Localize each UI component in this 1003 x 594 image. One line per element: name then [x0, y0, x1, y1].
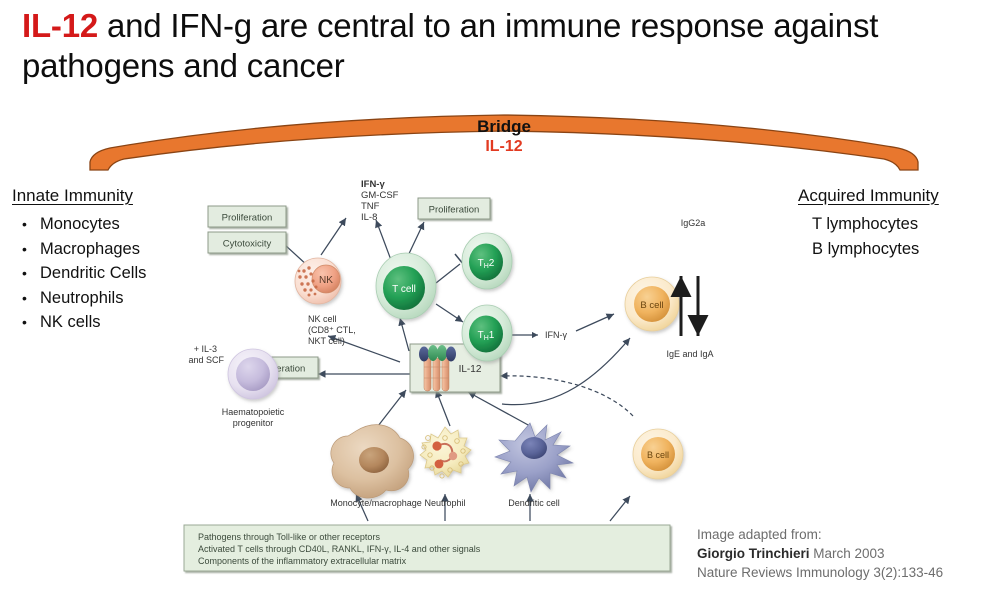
immune-pathway-diagram: Proliferation Cytotoxicity Proliferation…	[178, 176, 718, 586]
box-cytotoxicity-nk: Cytotoxicity	[208, 232, 286, 253]
acquired-immunity-heading: Acquired Immunity	[798, 186, 939, 206]
antibody-up-label: IgG2a	[681, 218, 706, 228]
title-accent: IL-12	[22, 7, 98, 44]
acquired-immunity-list: T lymphocytes B lymphocytes	[812, 212, 919, 261]
innate-immunity-list: Monocytes Macrophages Dendritic Cells Ne…	[18, 212, 146, 335]
nk-caption-line2: (CD8⁺ CTL,	[308, 325, 356, 335]
cell-nk: NK	[295, 258, 341, 304]
box-proliferation-tcell: Proliferation	[418, 198, 490, 219]
list-item: Dendritic Cells	[40, 261, 146, 286]
nk-caption-line3: NKT cell)	[308, 336, 345, 346]
cell-dendritic	[495, 423, 573, 492]
citation-author: Giorgio Trinchieri	[697, 546, 810, 561]
list-item: Neutrophils	[40, 286, 146, 311]
cytokine-ifng: IFN-γ	[361, 179, 385, 190]
progenitor-caption-line1: Haematopoietic	[222, 407, 285, 417]
citation-line-1: Image adapted from:	[697, 525, 943, 544]
stimuli-line-1: Pathogens through Toll-like or other rec…	[198, 532, 380, 542]
stimuli-line-3: Components of the inflammatory extracell…	[198, 556, 407, 566]
stimuli-box: Pathogens through Toll-like or other rec…	[184, 525, 670, 571]
page-title: IL-12 and IFN-g are central to an immune…	[22, 6, 982, 87]
list-item: Macrophages	[40, 237, 146, 262]
citation-line-3: Nature Reviews Immunology 3(2):133-46	[697, 563, 943, 582]
citation-line-2: Giorgio Trinchieri March 2003	[697, 544, 943, 563]
title-rest: and IFN-g are central to an immune respo…	[22, 7, 878, 84]
cytokine-il8: IL-8	[361, 212, 377, 223]
cell-label: T cell	[392, 284, 416, 295]
citation-date: March 2003	[810, 546, 885, 561]
il12-label: IL-12	[459, 364, 482, 375]
cell-neutrophil	[420, 427, 471, 478]
cell-label: B cell	[640, 300, 663, 311]
cell-monocyte-macrophage	[331, 425, 414, 498]
cytokine-tnf: TNF	[361, 201, 380, 212]
neutrophil-caption: Neutrophil	[424, 498, 465, 508]
box-label: Proliferation	[429, 205, 480, 216]
cytokine-gmcsf: GM-CSF	[361, 190, 399, 201]
progenitor-stim-line2: and SCF	[188, 355, 224, 365]
stimuli-line-2: Activated T cells through CD40L, RANKL, …	[198, 544, 481, 554]
dendritic-caption: Dendritic cell	[508, 498, 560, 508]
progenitor-stim-line1: + IL-3	[194, 344, 217, 354]
bridge-shape	[90, 115, 918, 170]
nk-caption-line1: NK cell	[308, 314, 337, 324]
bridge-arc: Bridge IL-12	[84, 112, 924, 174]
list-item: Monocytes	[40, 212, 146, 237]
cell-th2: TH2	[462, 233, 512, 289]
cell-label: B cell	[647, 450, 669, 460]
innate-immunity-heading: Innate Immunity	[12, 186, 133, 206]
cytokine-ifng-th1: IFN-γ	[545, 330, 567, 340]
slide-root: { "title": { "accent": "IL-12", "rest": …	[0, 0, 1003, 594]
cell-b-top: B cell	[625, 277, 679, 331]
cell-haematopoietic-progenitor	[228, 349, 278, 399]
cell-t: T cell	[376, 253, 436, 319]
cell-b-bottom: B cell	[633, 429, 683, 479]
list-item: T lymphocytes	[812, 212, 919, 237]
list-item: NK cells	[40, 310, 146, 335]
box-label: Cytotoxicity	[223, 239, 272, 250]
cell-label: NK	[319, 275, 333, 286]
monocyte-caption: Monocyte/macrophage	[330, 498, 422, 508]
progenitor-caption-line2: progenitor	[233, 418, 274, 428]
box-proliferation-nk: Proliferation	[208, 206, 286, 227]
list-item: B lymphocytes	[812, 237, 919, 262]
box-label: Proliferation	[222, 213, 273, 224]
cell-th1: TH1	[462, 305, 512, 361]
antibody-down-label: IgE and IgA	[666, 349, 713, 359]
citation-block: Image adapted from: Giorgio Trinchieri M…	[697, 525, 943, 582]
